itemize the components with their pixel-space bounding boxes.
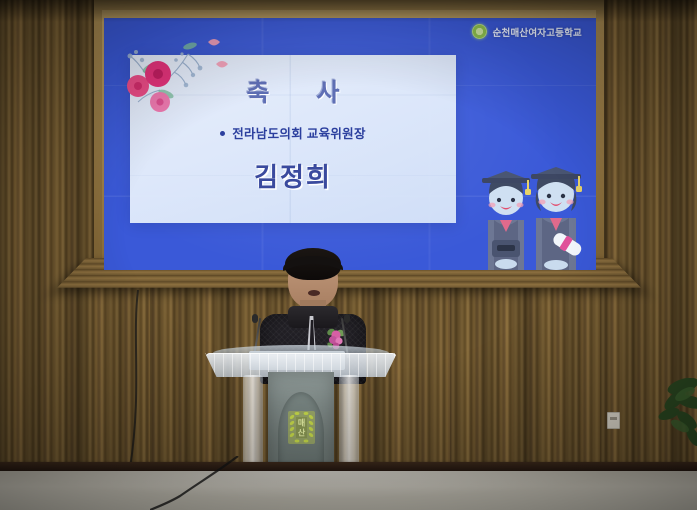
photo-top-shadow [0,0,697,22]
photo-vignette [0,0,697,510]
photo-scene: 순천매산여자고등학교 축 사 전라남도의회 교육위원장 김정희 [0,0,697,510]
